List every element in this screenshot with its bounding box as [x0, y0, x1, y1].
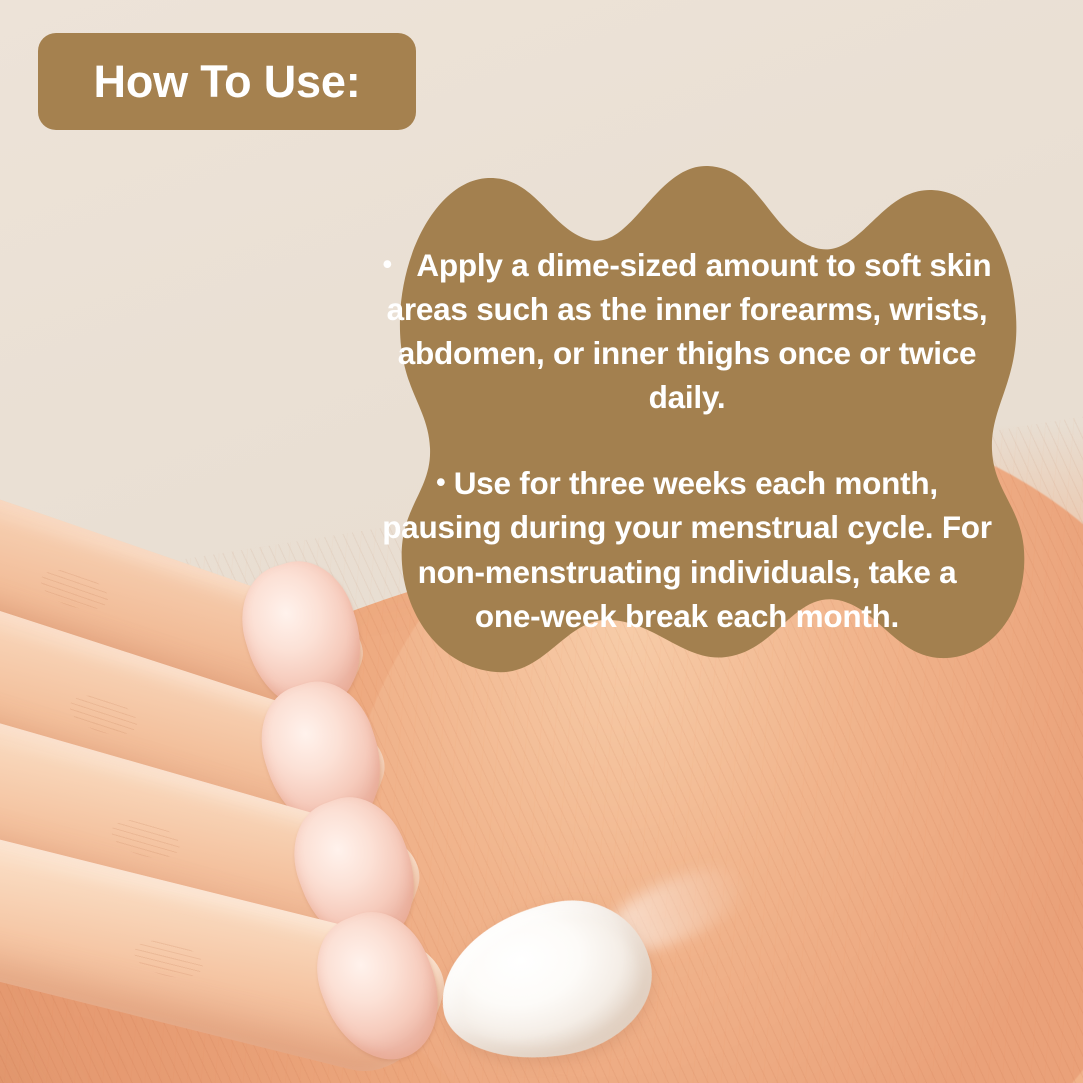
finger-crease	[36, 562, 113, 617]
promo-graphic-canvas: •Apply a dime-sized amount to soft skin …	[0, 0, 1083, 1083]
bullet-icon: •	[436, 467, 454, 497]
finger-crease	[107, 813, 184, 865]
bullet-icon: •	[383, 249, 417, 279]
list-item: •Use for three weeks each month, pausing…	[382, 461, 992, 637]
list-item-text: Use for three weeks each month, pausing …	[382, 465, 992, 633]
finger-crease	[65, 688, 142, 742]
how-to-use-badge: How To Use:	[38, 33, 416, 130]
instructions-text-block: •Apply a dime-sized amount to soft skin …	[382, 243, 992, 638]
list-item-text: Apply a dime-sized amount to soft skin a…	[387, 247, 992, 415]
fingernail-4	[299, 896, 459, 1077]
list-item: •Apply a dime-sized amount to soft skin …	[382, 243, 992, 419]
page-title: How To Use:	[94, 56, 361, 108]
finger-crease	[130, 934, 206, 984]
